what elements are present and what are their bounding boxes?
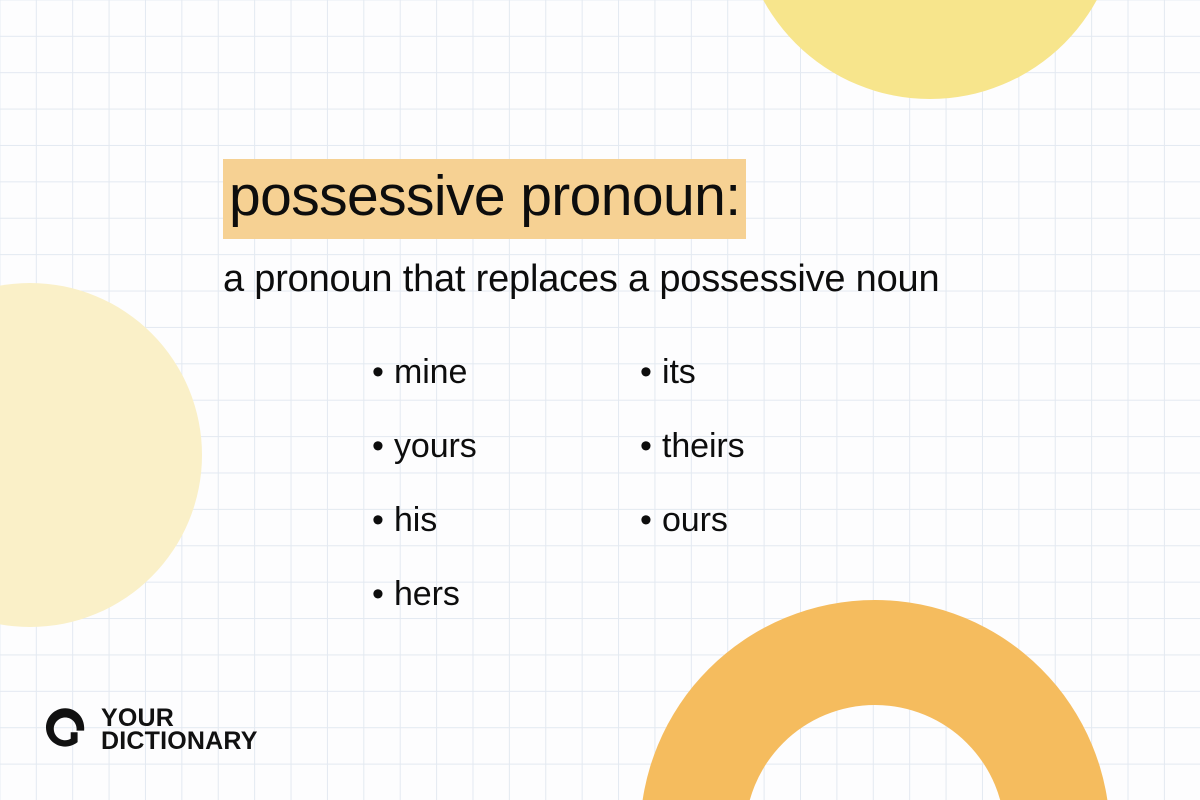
yourdictionary-logo[interactable]: YOUR DICTIONARY <box>42 706 258 754</box>
list-item-label: his <box>394 500 437 540</box>
list-item: ours <box>640 500 940 574</box>
list-item-label: yours <box>394 426 477 466</box>
bullet-icon <box>372 500 394 540</box>
examples-lists: mine yours his hers its <box>372 352 940 648</box>
infographic-content: possessive pronoun: a pronoun that repla… <box>0 0 1200 800</box>
list-item-label: its <box>662 352 696 392</box>
examples-column-1: mine yours his hers <box>372 352 640 648</box>
list-item: its <box>640 352 940 426</box>
infographic-canvas: possessive pronoun: a pronoun that repla… <box>0 0 1200 800</box>
bullet-icon <box>372 352 394 392</box>
examples-column-2: its theirs ours <box>640 352 940 648</box>
logo-line-2: DICTIONARY <box>101 730 258 753</box>
list-item: theirs <box>640 426 940 500</box>
bullet-icon <box>372 426 394 466</box>
bullet-icon <box>640 352 662 392</box>
list-item: hers <box>372 574 640 648</box>
definition-text: a pronoun that replaces a possessive nou… <box>223 256 939 302</box>
list-item-label: hers <box>394 574 460 614</box>
bullet-icon <box>640 426 662 466</box>
list-item: yours <box>372 426 640 500</box>
term-heading-wrapper: possessive pronoun: <box>223 159 746 239</box>
logo-wordmark: YOUR DICTIONARY <box>101 707 258 753</box>
bullet-icon <box>640 500 662 540</box>
q-circle-icon <box>42 706 90 754</box>
list-item: mine <box>372 352 640 426</box>
term-heading: possessive pronoun: <box>223 159 746 239</box>
list-item-label: theirs <box>662 426 745 466</box>
list-item: his <box>372 500 640 574</box>
list-item-label: mine <box>394 352 467 392</box>
list-item-label: ours <box>662 500 728 540</box>
bullet-icon <box>372 574 394 614</box>
